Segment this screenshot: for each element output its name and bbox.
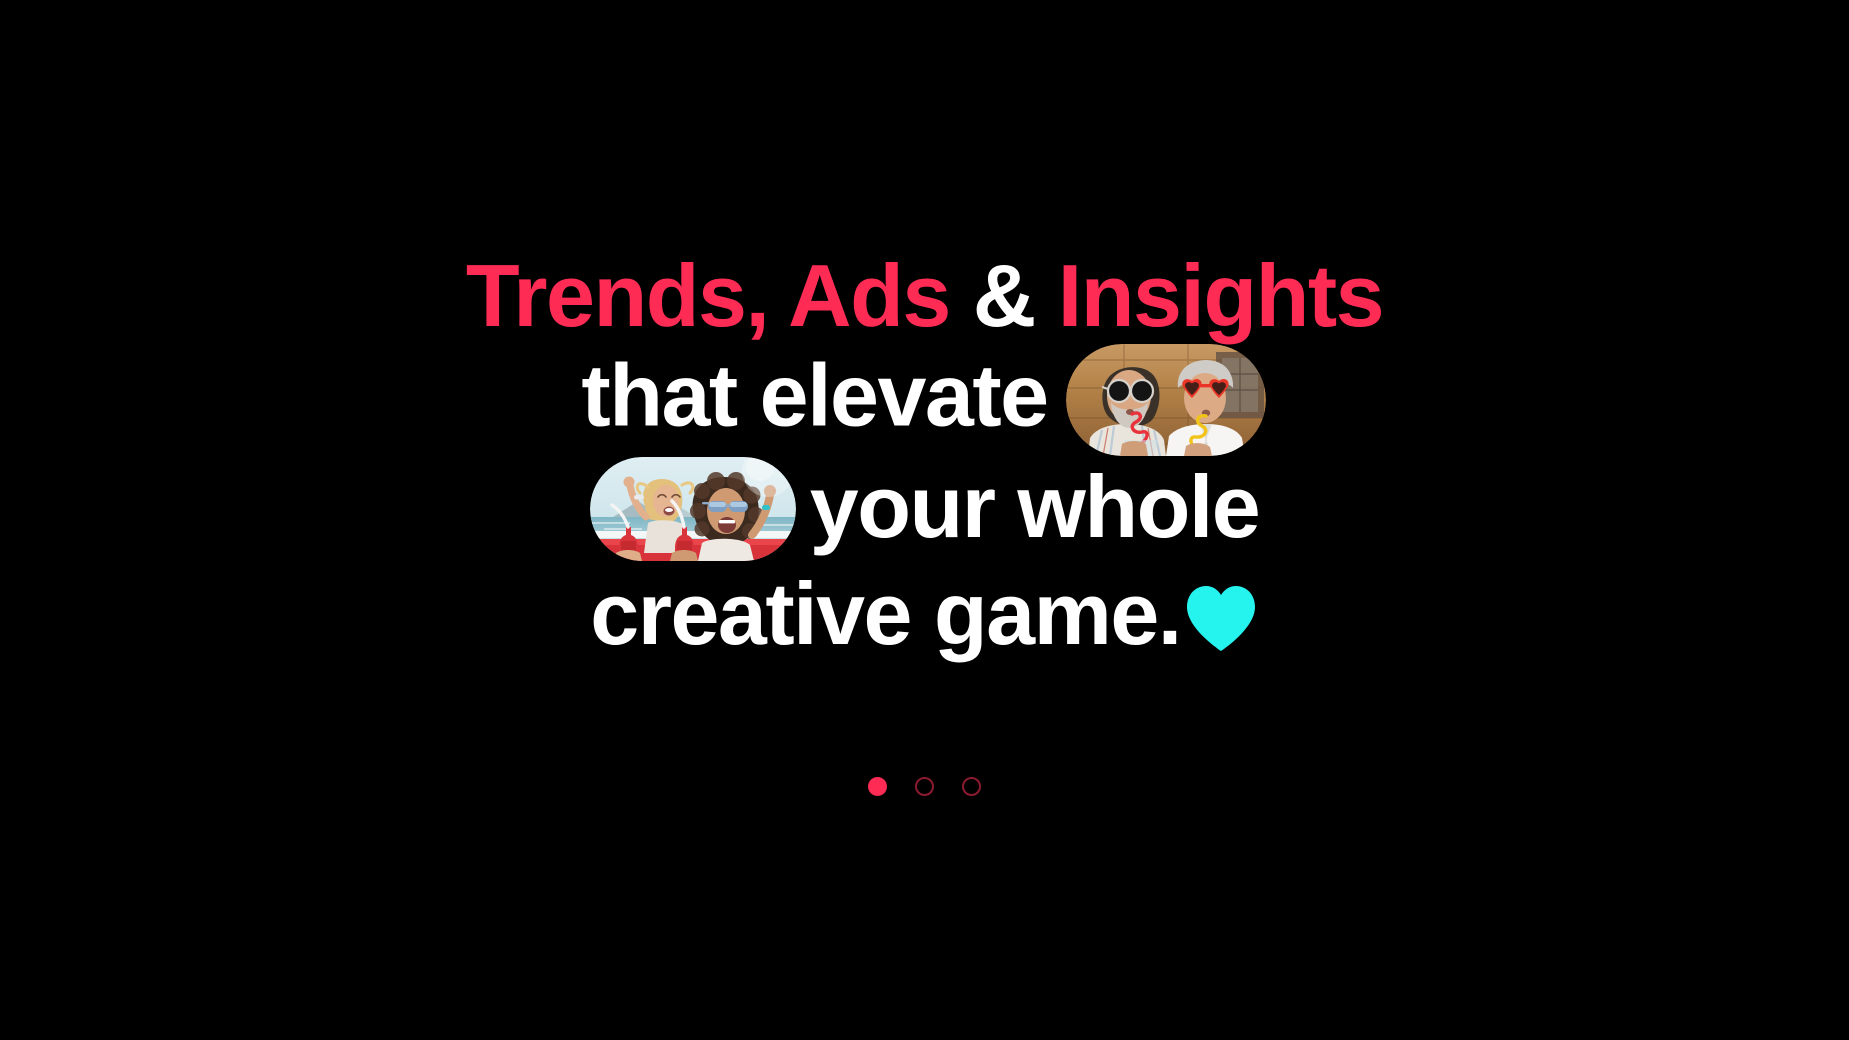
hero-slide: Trends, Ads & Insights that elevate	[0, 0, 1849, 1040]
cyan-heart-icon	[1183, 583, 1259, 653]
headline-text-creative-game: creative game.	[590, 564, 1181, 663]
headline-text-that-elevate: that elevate	[581, 345, 1047, 444]
headline-text-your-whole: your whole	[810, 457, 1260, 556]
hero-headline: Trends, Ads & Insights that elevate	[375, 247, 1475, 664]
carousel-dot-3[interactable]	[962, 777, 981, 796]
beach-friends-drinks-photo	[590, 457, 796, 561]
carousel-dot-1[interactable]	[868, 777, 887, 796]
headline-word-ads: Ads	[788, 246, 950, 345]
elderly-couple-sunglasses-photo	[1066, 344, 1266, 456]
headline-line-3: your whole	[375, 458, 1475, 566]
headline-line-4: creative game.	[375, 565, 1475, 664]
headline-word-trends: Trends,	[466, 246, 768, 345]
headline-word-ampersand: &	[973, 246, 1035, 345]
carousel-dot-2[interactable]	[915, 777, 934, 796]
headline-line-1: Trends, Ads & Insights	[375, 247, 1475, 346]
carousel-dots[interactable]	[0, 777, 1849, 796]
headline-word-insights: Insights	[1058, 246, 1383, 345]
headline-line-2: that elevate	[375, 346, 1475, 458]
